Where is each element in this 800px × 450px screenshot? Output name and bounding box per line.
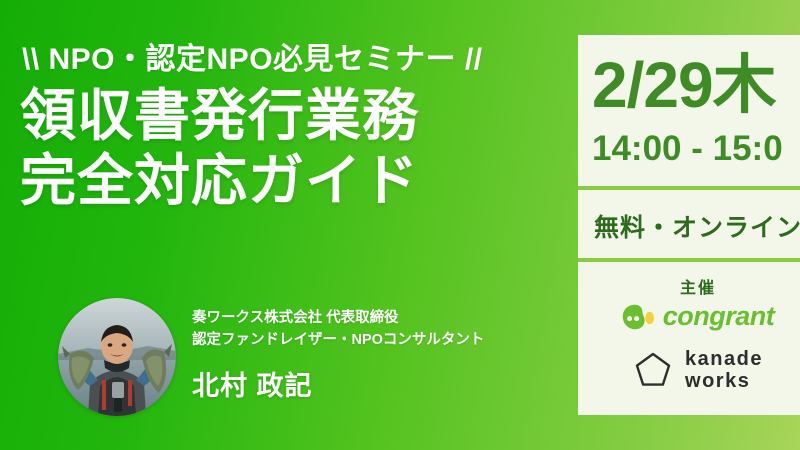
kanade-pentagon-icon bbox=[633, 350, 673, 390]
page-title: 領収書発行業務 完全対応ガイド bbox=[20, 84, 580, 214]
headline-line-1: 領収書発行業務 bbox=[20, 84, 580, 149]
mode-block: 無料・オンライン開 bbox=[578, 190, 800, 258]
congrant-logo: congrant bbox=[578, 303, 800, 330]
avatar-photo-icon bbox=[58, 298, 176, 416]
date-block: 2/29木 14:00 - 15:0 bbox=[578, 35, 800, 186]
speaker-text: 奏ワークス株式会社 代表取締役 認定ファンドレイザー・NPOコンサルタント 北村… bbox=[192, 307, 572, 403]
speaker-block: 奏ワークス株式会社 代表取締役 認定ファンドレイザー・NPOコンサルタント 北村… bbox=[58, 298, 568, 422]
host-block: 主催 congrant bbox=[578, 262, 800, 415]
host-label: 主催 bbox=[578, 274, 800, 298]
event-mode: 無料・オンライン開 bbox=[594, 208, 800, 244]
speaker-role-line-2: 認定ファンドレイザー・NPOコンサルタント bbox=[192, 329, 572, 351]
kanade-line-1: kanade bbox=[685, 348, 763, 370]
speaker-name: 北村 政記 bbox=[192, 364, 572, 403]
headline-line-2: 完全対応ガイド bbox=[20, 149, 580, 214]
avatar bbox=[58, 298, 176, 416]
congrant-mark-icon bbox=[622, 304, 656, 330]
kanade-works-wordmark: kanade works bbox=[685, 348, 763, 393]
event-info-panel: 2/29木 14:00 - 15:0 無料・オンライン開 主催 congrant bbox=[578, 35, 800, 415]
speaker-role-line-1: 奏ワークス株式会社 代表取締役 bbox=[192, 307, 572, 329]
kanade-works-logo: kanade works bbox=[578, 348, 800, 393]
event-time: 14:00 - 15:0 bbox=[592, 131, 783, 166]
seminar-banner: \\ NPO・認定NPO必見セミナー // 領収書発行業務 完全対応ガイド bbox=[0, 0, 800, 450]
banner-left-content: \\ NPO・認定NPO必見セミナー // 領収書発行業務 完全対応ガイド bbox=[0, 0, 578, 450]
kanade-line-2: works bbox=[685, 370, 763, 392]
event-date: 2/29木 bbox=[592, 53, 776, 117]
congrant-wordmark: congrant bbox=[663, 303, 775, 330]
tagline: \\ NPO・認定NPO必見セミナー // bbox=[22, 34, 483, 78]
